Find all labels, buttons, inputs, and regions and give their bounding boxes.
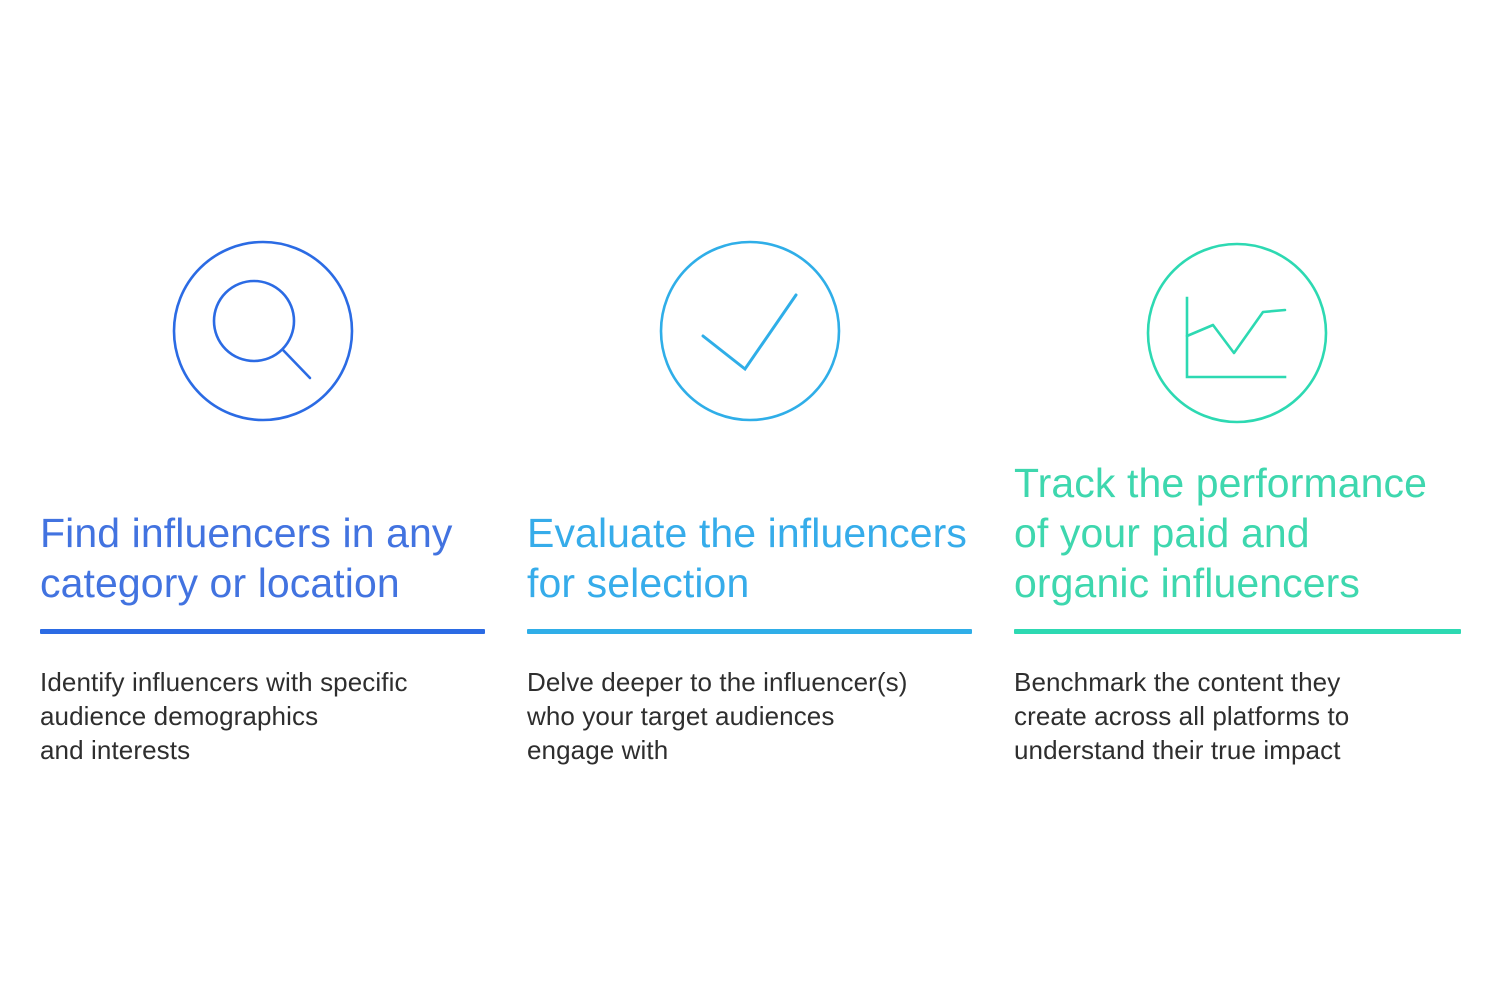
line-chart-icon-svg	[1144, 240, 1330, 426]
feature-body-track: Benchmark the content they create across…	[1014, 665, 1464, 767]
magnifier-icon	[40, 238, 486, 428]
feature-divider-track	[1014, 629, 1461, 634]
checkmark-icon-svg	[657, 238, 843, 424]
checkmark-stroke	[703, 295, 796, 369]
chart-axes	[1187, 298, 1285, 377]
magnifier-handle	[283, 350, 310, 378]
chart-ring	[1148, 244, 1326, 422]
slide-canvas: Find influencers in any category or loca…	[0, 0, 1500, 1000]
checkmark-icon	[527, 238, 973, 428]
checkmark-ring	[661, 242, 839, 420]
feature-heading-track: Track the performance of your paid and o…	[1014, 458, 1466, 608]
feature-body-evaluate: Delve deeper to the influencer(s) who yo…	[527, 665, 977, 767]
feature-divider-evaluate	[527, 629, 972, 634]
feature-heading-find: Find influencers in any category or loca…	[40, 508, 492, 608]
feature-column-track: Track the performance of your paid and o…	[1014, 0, 1460, 1000]
magnifier-icon-svg	[170, 238, 356, 424]
feature-body-find: Identify influencers with specific audie…	[40, 665, 490, 767]
line-chart-icon	[1014, 240, 1460, 430]
magnifier-outer-ring	[174, 242, 352, 420]
chart-trend-line	[1187, 310, 1285, 353]
magnifier-lens	[214, 281, 294, 361]
feature-column-find: Find influencers in any category or loca…	[40, 0, 486, 1000]
feature-heading-evaluate: Evaluate the influencers for selection	[527, 508, 979, 608]
feature-divider-find	[40, 629, 485, 634]
feature-columns: Find influencers in any category or loca…	[40, 0, 1460, 1000]
feature-column-evaluate: Evaluate the influencers for selection D…	[527, 0, 973, 1000]
